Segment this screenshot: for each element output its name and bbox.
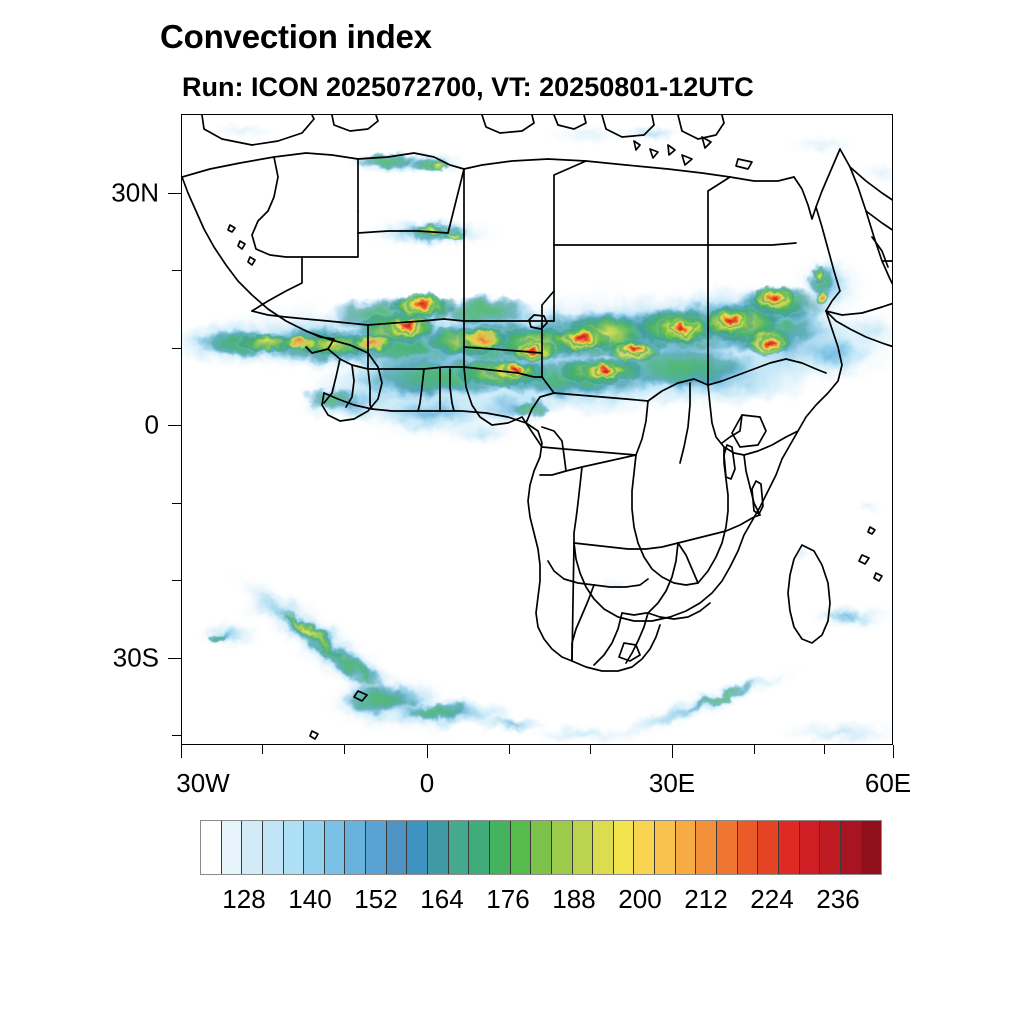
xtick-0 <box>427 745 428 758</box>
xtick-label-30e: 30E <box>649 768 695 799</box>
xtick-label-30w: 30W <box>176 768 229 799</box>
ytick-minor-10s <box>172 503 181 504</box>
xtick-minor-10w <box>344 745 345 754</box>
colorbar-cell <box>469 821 490 874</box>
colorbar-tick-label: 188 <box>552 884 595 915</box>
colorbar-cell <box>490 821 511 874</box>
ytick-minor-20n <box>172 270 181 271</box>
colorbar-cell <box>242 821 263 874</box>
colorbar-cell <box>449 821 470 874</box>
xtick-label-60e: 60E <box>865 768 911 799</box>
colorbar-tick-label: 236 <box>816 884 859 915</box>
colorbar-cell <box>531 821 552 874</box>
colorbar[interactable] <box>200 820 882 875</box>
xtick-30w <box>181 745 182 758</box>
ytick-30s <box>168 658 181 659</box>
colorbar-cell <box>614 821 635 874</box>
colorbar-tick-label: 212 <box>684 884 727 915</box>
colorbar-cell <box>345 821 366 874</box>
ytick-minor-20s <box>172 580 181 581</box>
xtick-minor-50e <box>824 745 825 754</box>
colorbar-cell <box>428 821 449 874</box>
page-title: Convection index <box>160 18 432 56</box>
colorbar-cell <box>201 821 222 874</box>
ytick-0 <box>168 425 181 426</box>
colorbar-tick-label: 164 <box>420 884 463 915</box>
map-svg <box>182 115 893 745</box>
colorbar-cell <box>758 821 779 874</box>
colorbar-cell <box>717 821 738 874</box>
colorbar-cell <box>407 821 428 874</box>
ytick-label-30n: 30N <box>97 178 159 209</box>
colorbar-cell <box>573 821 594 874</box>
colorbar-cell <box>696 821 717 874</box>
xtick-minor-40e <box>754 745 755 754</box>
colorbar-cell <box>841 821 862 874</box>
colorbar-tick-label: 224 <box>750 884 793 915</box>
page-subtitle: Run: ICON 2025072700, VT: 20250801-12UTC <box>182 72 754 103</box>
colorbar-tick-label: 176 <box>486 884 529 915</box>
xtick-minor-20e <box>590 745 591 754</box>
colorbar-tick-label: 200 <box>618 884 661 915</box>
colorbar-cell <box>222 821 243 874</box>
ytick-label-0: 0 <box>97 410 159 441</box>
colorbar-cell <box>676 821 697 874</box>
ytick-minor-10n <box>172 348 181 349</box>
colorbar-cell <box>552 821 573 874</box>
ytick-30n <box>168 193 181 194</box>
colorbar-cell <box>655 821 676 874</box>
colorbar-cell <box>738 821 759 874</box>
colorbar-cell <box>325 821 346 874</box>
colorbar-cell <box>862 821 882 874</box>
xtick-60e <box>893 745 894 758</box>
colorbar-cell <box>820 821 841 874</box>
colorbar-cell <box>800 821 821 874</box>
xtick-minor-10e <box>509 745 510 754</box>
colorbar-tick-label: 152 <box>354 884 397 915</box>
xtick-minor-20w <box>262 745 263 754</box>
colorbar-cell <box>511 821 532 874</box>
map-plot-area[interactable] <box>181 114 893 745</box>
colorbar-cell <box>284 821 305 874</box>
colorbar-cell <box>593 821 614 874</box>
colorbar-tick-label: 140 <box>288 884 331 915</box>
convection-field <box>182 123 893 745</box>
colorbar-tick-label: 128 <box>222 884 265 915</box>
colorbar-cell <box>304 821 325 874</box>
xtick-label-0: 0 <box>420 768 434 799</box>
colorbar-cell <box>779 821 800 874</box>
colorbar-cell <box>366 821 387 874</box>
colorbar-cell <box>634 821 655 874</box>
ytick-label-30s: 30S <box>97 643 159 674</box>
ytick-minor-40s <box>172 735 181 736</box>
colorbar-cell <box>263 821 284 874</box>
xtick-30e <box>672 745 673 758</box>
colorbar-cell <box>387 821 408 874</box>
figure-canvas: Convection index Run: ICON 2025072700, V… <box>0 0 1024 1024</box>
